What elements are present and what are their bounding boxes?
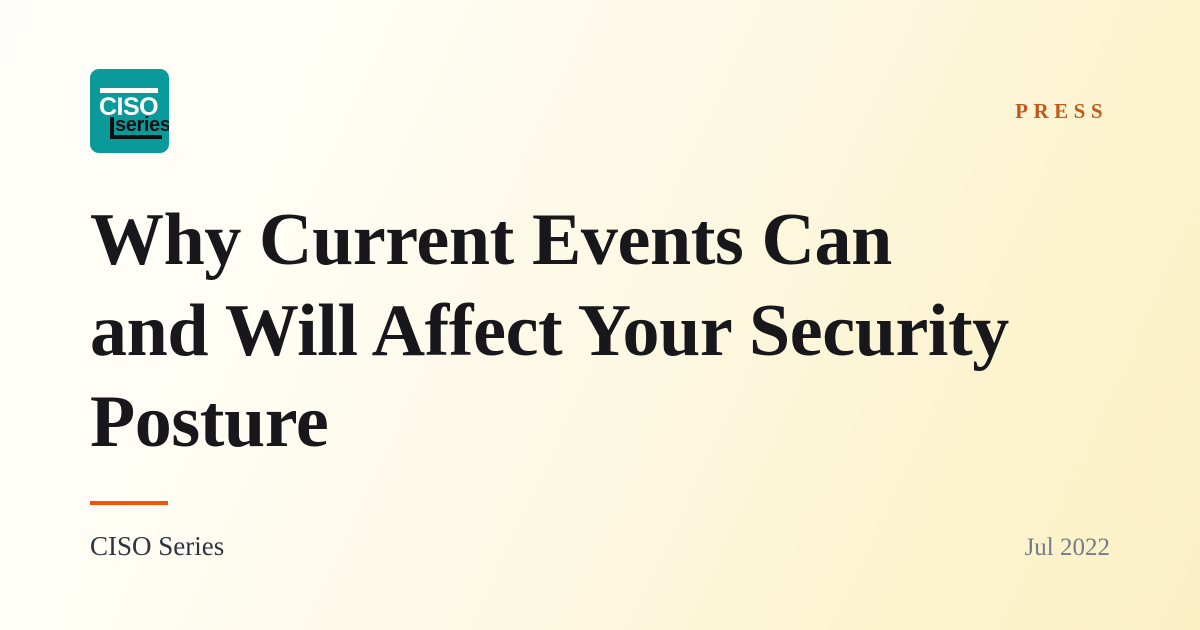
card-footer: CISO Series Jul 2022 bbox=[90, 501, 1110, 562]
ciso-series-logo-icon[interactable]: CISO series bbox=[90, 69, 169, 153]
byline-author[interactable]: CISO Series bbox=[90, 531, 224, 562]
accent-divider bbox=[90, 501, 168, 505]
press-card: CISO series PRESS Why Current Events Can… bbox=[0, 0, 1200, 630]
card-header: CISO series PRESS bbox=[90, 69, 1110, 153]
page-title: Why Current Events Can and Will Affect Y… bbox=[90, 153, 1020, 468]
category-label-press[interactable]: PRESS bbox=[1015, 99, 1110, 124]
logo-secondary-text: series bbox=[115, 115, 169, 136]
logo-series-group: series bbox=[110, 117, 162, 141]
footer-meta-row: CISO Series Jul 2022 bbox=[90, 531, 1110, 562]
publish-date: Jul 2022 bbox=[1025, 534, 1110, 562]
